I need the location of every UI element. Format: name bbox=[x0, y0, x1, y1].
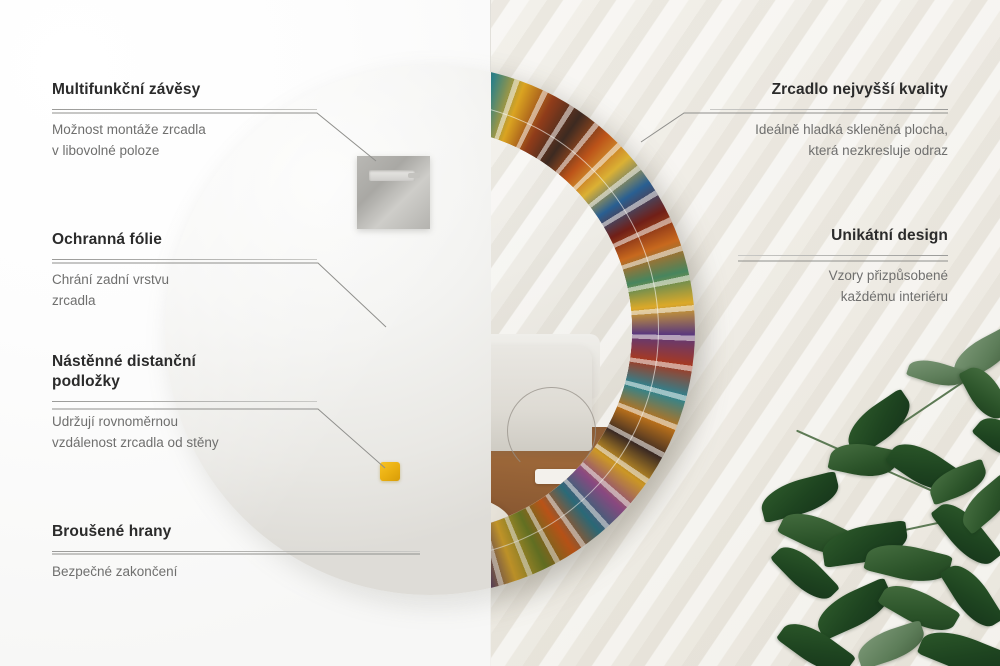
callout-desc-line-2: zrcadla bbox=[52, 293, 96, 308]
callout-unikatni-design: Unikátní design Vzory přizpůsobené každé… bbox=[738, 226, 948, 307]
callout-title: Multifunkční závěsy bbox=[52, 80, 317, 100]
callout-desc-line-1: Možnost montáže zrcadla bbox=[52, 122, 206, 137]
callout-rule bbox=[52, 259, 317, 260]
infographic-canvas: Multifunkční závěsy Možnost montáže zrca… bbox=[0, 0, 1000, 666]
callout-title-line-2: podložky bbox=[52, 373, 120, 390]
reflected-lamp-base bbox=[535, 469, 579, 483]
callout-zrcadlo-nejvyssi-kvality: Zrcadlo nejvyšší kvality Ideálně hladká … bbox=[710, 80, 948, 161]
callout-desc-line-1: Chrání zadní vrstvu bbox=[52, 272, 169, 287]
callout-rule bbox=[738, 255, 948, 256]
wall-hanger-bracket bbox=[357, 156, 430, 229]
mirror-front-disc bbox=[491, 65, 695, 595]
callout-rule bbox=[710, 109, 948, 110]
plant-decoration bbox=[760, 340, 1000, 666]
callout-title: Ochranná fólie bbox=[52, 230, 317, 250]
callout-rule bbox=[52, 109, 317, 110]
callout-description: Chrání zadní vrstvu zrcadla bbox=[52, 270, 317, 311]
callout-desc-line-2: v libovolné poloze bbox=[52, 143, 159, 158]
callout-desc-line-2: vzdálenost zrcadla od stěny bbox=[52, 435, 219, 450]
callout-desc-line-1: Vzory přizpůsobené bbox=[829, 268, 948, 283]
mirror-glass-surface bbox=[491, 128, 632, 532]
callout-title: Broušené hrany bbox=[52, 522, 420, 542]
callout-description: Vzory přizpůsobené každému interiéru bbox=[738, 266, 948, 307]
hanger-keyhole-slot bbox=[369, 170, 415, 181]
callout-title: Zrcadlo nejvyšší kvality bbox=[710, 80, 948, 100]
plant-leaf bbox=[853, 620, 929, 666]
callout-nastenne-distancni-podlozky: Nástěnné distanční podložky Udržují rovn… bbox=[52, 352, 317, 453]
callout-rule bbox=[52, 401, 317, 402]
callout-desc-line-1: Udržují rovnoměrnou bbox=[52, 414, 178, 429]
callout-title: Unikátní design bbox=[738, 226, 948, 246]
callout-multifunkcni-zavesy: Multifunkční závěsy Možnost montáže zrca… bbox=[52, 80, 317, 161]
callout-desc-line-2: která nezkresluje odraz bbox=[808, 143, 948, 158]
callout-description: Možnost montáže zrcadla v libovolné polo… bbox=[52, 120, 317, 161]
callout-desc-line-2: každému interiéru bbox=[841, 289, 948, 304]
callout-description: Udržují rovnoměrnou vzdálenost zrcadla o… bbox=[52, 412, 317, 453]
callout-ochranna-folie: Ochranná fólie Chrání zadní vrstvu zrcad… bbox=[52, 230, 317, 311]
plant-leaf bbox=[958, 360, 1000, 425]
reflected-floor-lamp bbox=[507, 387, 596, 476]
callout-title: Nástěnné distanční podložky bbox=[52, 352, 317, 392]
callout-desc-line-1: Ideálně hladká skleněná plocha, bbox=[755, 122, 948, 137]
callout-description: Bezpečné zakončení bbox=[52, 562, 420, 583]
distance-spacer-pad bbox=[380, 462, 400, 481]
callout-rule bbox=[52, 551, 420, 552]
callout-title-line-1: Nástěnné distanční bbox=[52, 353, 196, 370]
callout-description: Ideálně hladká skleněná plocha, která ne… bbox=[710, 120, 948, 161]
callout-brousene-hrany: Broušené hrany Bezpečné zakončení bbox=[52, 522, 420, 583]
